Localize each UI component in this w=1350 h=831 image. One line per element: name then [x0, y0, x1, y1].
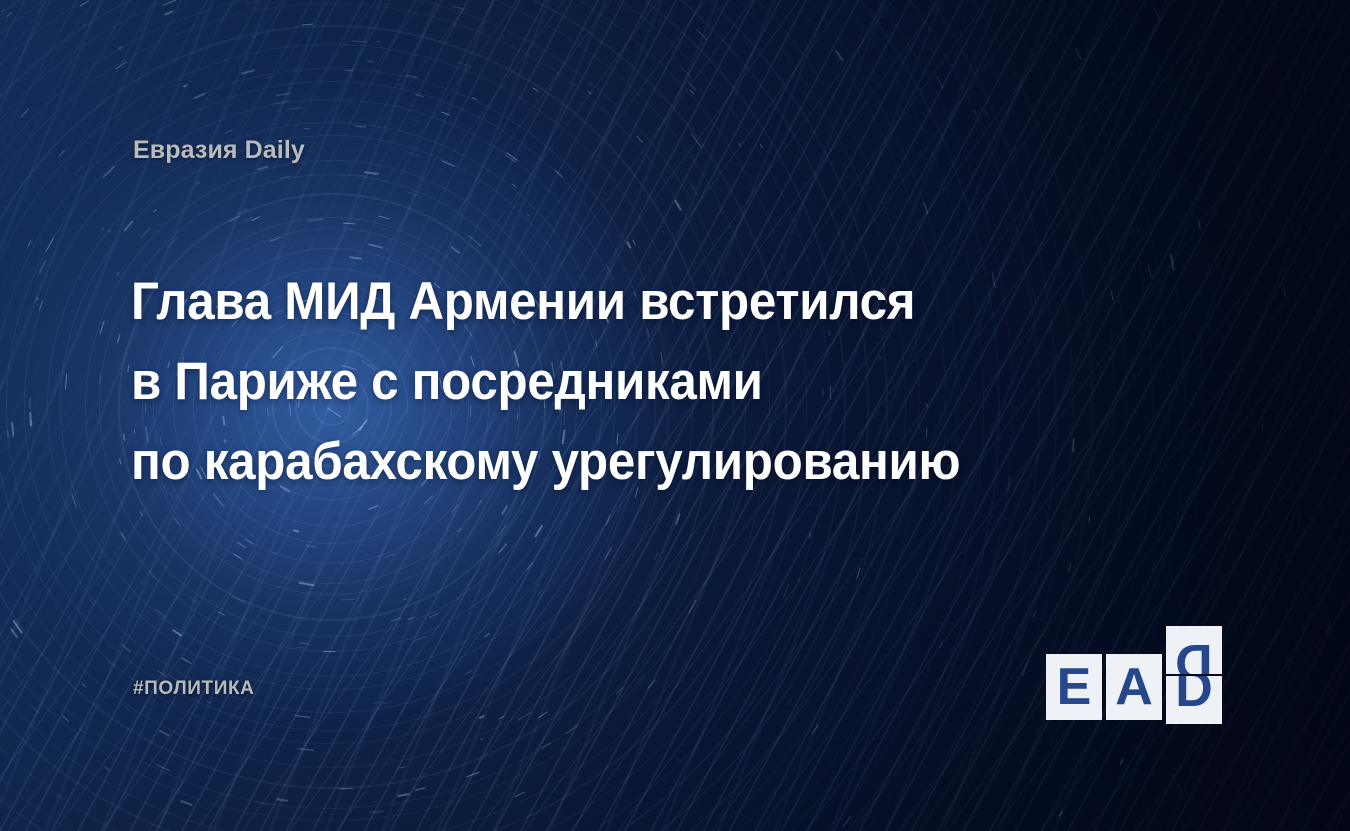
logo-letter-a: A: [1115, 661, 1153, 713]
logo-letter-d-rotated: D: [1175, 636, 1213, 674]
headline-line-1: Глава МИД Армении встретился: [131, 262, 1024, 342]
headline-line-2: в Париже с посредниками: [131, 342, 1024, 422]
logo-tile-d: D: [1166, 676, 1222, 724]
logo-letter-e: E: [1057, 661, 1092, 713]
eadaily-logo[interactable]: E A D D: [1046, 626, 1224, 724]
news-card: Евразия Daily Глава МИД Армении встретил…: [0, 0, 1350, 831]
category-tag[interactable]: #ПОЛИТИКА: [133, 678, 255, 700]
headline-line-3: по карабахскому урегулированию: [131, 422, 1024, 502]
card-content: Евразия Daily Глава МИД Армении встретил…: [0, 0, 1350, 831]
headline: Глава МИД Армении встретился в Париже с …: [131, 262, 1091, 502]
logo-tile-e: E: [1046, 654, 1102, 720]
logo-tile-d-rotated: D: [1166, 626, 1222, 674]
brand-label: Евразия Daily: [133, 136, 305, 165]
logo-letter-d: D: [1175, 676, 1213, 715]
logo-tile-a: A: [1106, 654, 1162, 720]
